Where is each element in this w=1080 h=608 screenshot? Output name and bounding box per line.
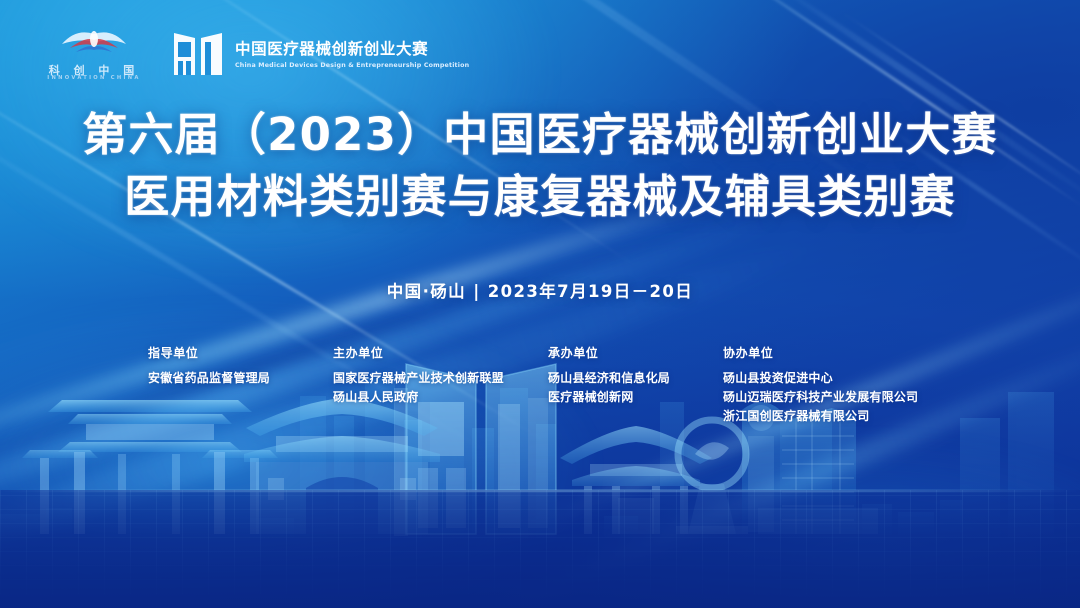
organizer-item: 砀山县投资促进中心 [723,369,968,388]
organizer-heading: 承办单位 [548,344,723,361]
logo-innovation-china[interactable]: 科 创 中 国 INNOVATION CHINA [46,22,142,84]
header-logos: 科 创 中 国 INNOVATION CHINA 中国医疗器械创新创业大赛 Ch… [46,22,469,84]
organizer-column-guidance: 指导单位 安徽省药品监督管理局 [148,344,333,388]
poster-canvas: 科 创 中 国 INNOVATION CHINA 中国医疗器械创新创业大赛 Ch… [0,0,1080,608]
grid-floor [0,490,1080,608]
organizer-heading: 指导单位 [148,344,333,361]
organizer-heading: 协办单位 [723,344,968,361]
organizer-item: 砀山县人民政府 [333,388,548,407]
event-location-date: 中国·砀山 | 2023年7月19日－20日 [0,278,1080,302]
open-door-logo-icon [172,29,224,77]
organizer-column-organizer: 承办单位 砀山县经济和信息化局 医疗器械创新网 [548,344,723,407]
poster-title: 第六届（2023）中国医疗器械创新创业大赛 医用材料类别赛与康复器械及辅具类别赛 [0,104,1080,228]
organizer-item: 医疗器械创新网 [548,388,723,407]
logo-competition-cn: 中国医疗器械创新创业大赛 [235,37,469,59]
eagle-emblem-icon [56,22,132,60]
organizer-item: 安徽省药品监督管理局 [148,369,333,388]
organizer-list: 指导单位 安徽省药品监督管理局 主办单位 国家医疗器械产业技术创新联盟 砀山县人… [148,344,968,426]
logo-innovation-china-en: INNOVATION CHINA [46,75,142,81]
title-line-1: 第六届（2023）中国医疗器械创新创业大赛 [0,104,1080,166]
organizer-column-coorganizer: 协办单位 砀山县投资促进中心 砀山迈瑞医疗科技产业发展有限公司 浙江国创医疗器械… [723,344,968,426]
logo-competition[interactable]: 中国医疗器械创新创业大赛 China Medical Devices Desig… [172,29,469,77]
logo-competition-en: China Medical Devices Design & Entrepren… [235,62,469,69]
organizer-heading: 主办单位 [333,344,548,361]
title-line-2: 医用材料类别赛与康复器械及辅具类别赛 [0,166,1080,228]
organizer-item: 国家医疗器械产业技术创新联盟 [333,369,548,388]
organizer-item: 砀山迈瑞医疗科技产业发展有限公司 [723,388,968,407]
organizer-item: 砀山县经济和信息化局 [548,369,723,388]
organizer-column-host: 主办单位 国家医疗器械产业技术创新联盟 砀山县人民政府 [333,344,548,407]
organizer-item: 浙江国创医疗器械有限公司 [723,407,968,426]
